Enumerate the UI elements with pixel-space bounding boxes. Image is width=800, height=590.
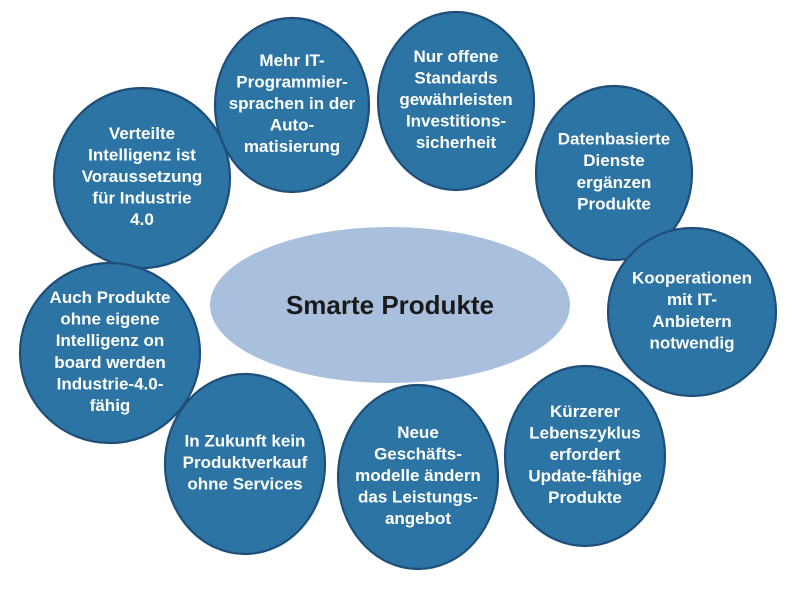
node-kooperationen-it-anbieter[interactable]: Kooperationenmit IT-Anbieternnotwendig: [608, 228, 776, 396]
node-auch-produkte-ohne-eigene-intelligenz[interactable]: Auch Produkteohne eigeneIntelligenz onbo…: [20, 263, 200, 443]
node-label-line: Anbietern: [652, 312, 731, 331]
node-label-line: Intelligenz on: [56, 332, 165, 351]
node-label-line: gewährleisten: [399, 90, 512, 109]
node-verteilte-intelligenz[interactable]: VerteilteIntelligenz istVoraussetzungfür…: [54, 88, 230, 268]
node-label-line: ohne Services: [187, 475, 302, 494]
node-neue-geschaeftsmodelle[interactable]: NeueGeschäfts-modelle änderndas Leistung…: [338, 385, 498, 569]
node-label-nur-offene-standards: Nur offeneStandardsgewährleistenInvestit…: [399, 47, 512, 152]
node-label-line: Programmier-: [236, 73, 347, 92]
node-label-line: sicherheit: [416, 134, 497, 153]
node-label-line: board werden: [54, 353, 165, 372]
node-label-line: In Zukunft kein: [185, 432, 306, 451]
node-label-line: Voraussetzung: [82, 167, 203, 186]
node-label-line: Verteilte: [109, 124, 175, 143]
node-label-line: 4.0: [130, 211, 154, 230]
node-kuerzerer-lebenszyklus[interactable]: KürzererLebenszykluserfordertUpdate-fähi…: [505, 366, 665, 546]
node-label-line: Neue: [397, 423, 439, 442]
node-kein-produktverkauf-ohne-services[interactable]: In Zukunft keinProduktverkaufohne Servic…: [165, 374, 325, 554]
diagram-canvas: Smarte Produkte VerteilteIntelligenz ist…: [0, 0, 800, 590]
node-mehr-it-programmiersprachen[interactable]: Mehr IT-Programmier-sprachen in derAuto-…: [215, 18, 369, 192]
node-label-line: Nur offene: [414, 47, 499, 66]
node-label-line: modelle ändern: [355, 466, 481, 485]
node-label-line: Geschäfts-: [374, 445, 462, 464]
node-label-line: matisierung: [244, 138, 340, 157]
node-label-line: Intelligenz ist: [88, 146, 196, 165]
node-label-line: Lebenszyklus: [529, 424, 641, 443]
node-label-line: erfordert: [550, 445, 621, 464]
node-label-line: Kooperationen: [632, 269, 752, 288]
node-label-line: Standards: [414, 69, 497, 88]
node-label-line: mit IT-: [667, 291, 717, 310]
node-label-line: sprachen in der: [229, 94, 356, 113]
node-label-kein-produktverkauf-ohne-services: In Zukunft keinProduktverkaufohne Servic…: [183, 432, 308, 494]
node-label-line: Auch Produkte: [50, 289, 171, 308]
node-label-line: ohne eigene: [60, 310, 159, 329]
node-label-line: für Industrie: [92, 189, 191, 208]
node-label-line: Produktverkauf: [183, 453, 308, 472]
node-label-line: Kürzerer: [550, 402, 620, 421]
node-label-line: Industrie-4.0-: [57, 375, 164, 394]
center-node-smarte-produkte[interactable]: Smarte Produkte: [210, 227, 570, 383]
node-label-line: Produkte: [577, 195, 651, 214]
node-label-line: Update-fähige: [528, 467, 641, 486]
node-label-line: angebot: [385, 510, 451, 529]
node-label-line: das Leistungs-: [358, 488, 478, 507]
node-label-line: Datenbasierte: [558, 130, 670, 149]
node-label-line: notwendig: [650, 334, 735, 353]
smarte-produkte-radial-diagram: Smarte Produkte VerteilteIntelligenz ist…: [0, 0, 800, 590]
node-label-line: Produkte: [548, 489, 622, 508]
node-label-line: Mehr IT-: [259, 51, 324, 70]
node-nur-offene-standards[interactable]: Nur offeneStandardsgewährleistenInvestit…: [378, 12, 534, 190]
node-label-line: Investitions-: [406, 112, 506, 131]
node-label-line: Auto-: [270, 116, 314, 135]
center-label: Smarte Produkte: [286, 290, 494, 320]
node-label-line: fähig: [90, 396, 131, 415]
node-label-line: Dienste: [583, 152, 644, 171]
node-label-line: ergänzen: [577, 173, 652, 192]
